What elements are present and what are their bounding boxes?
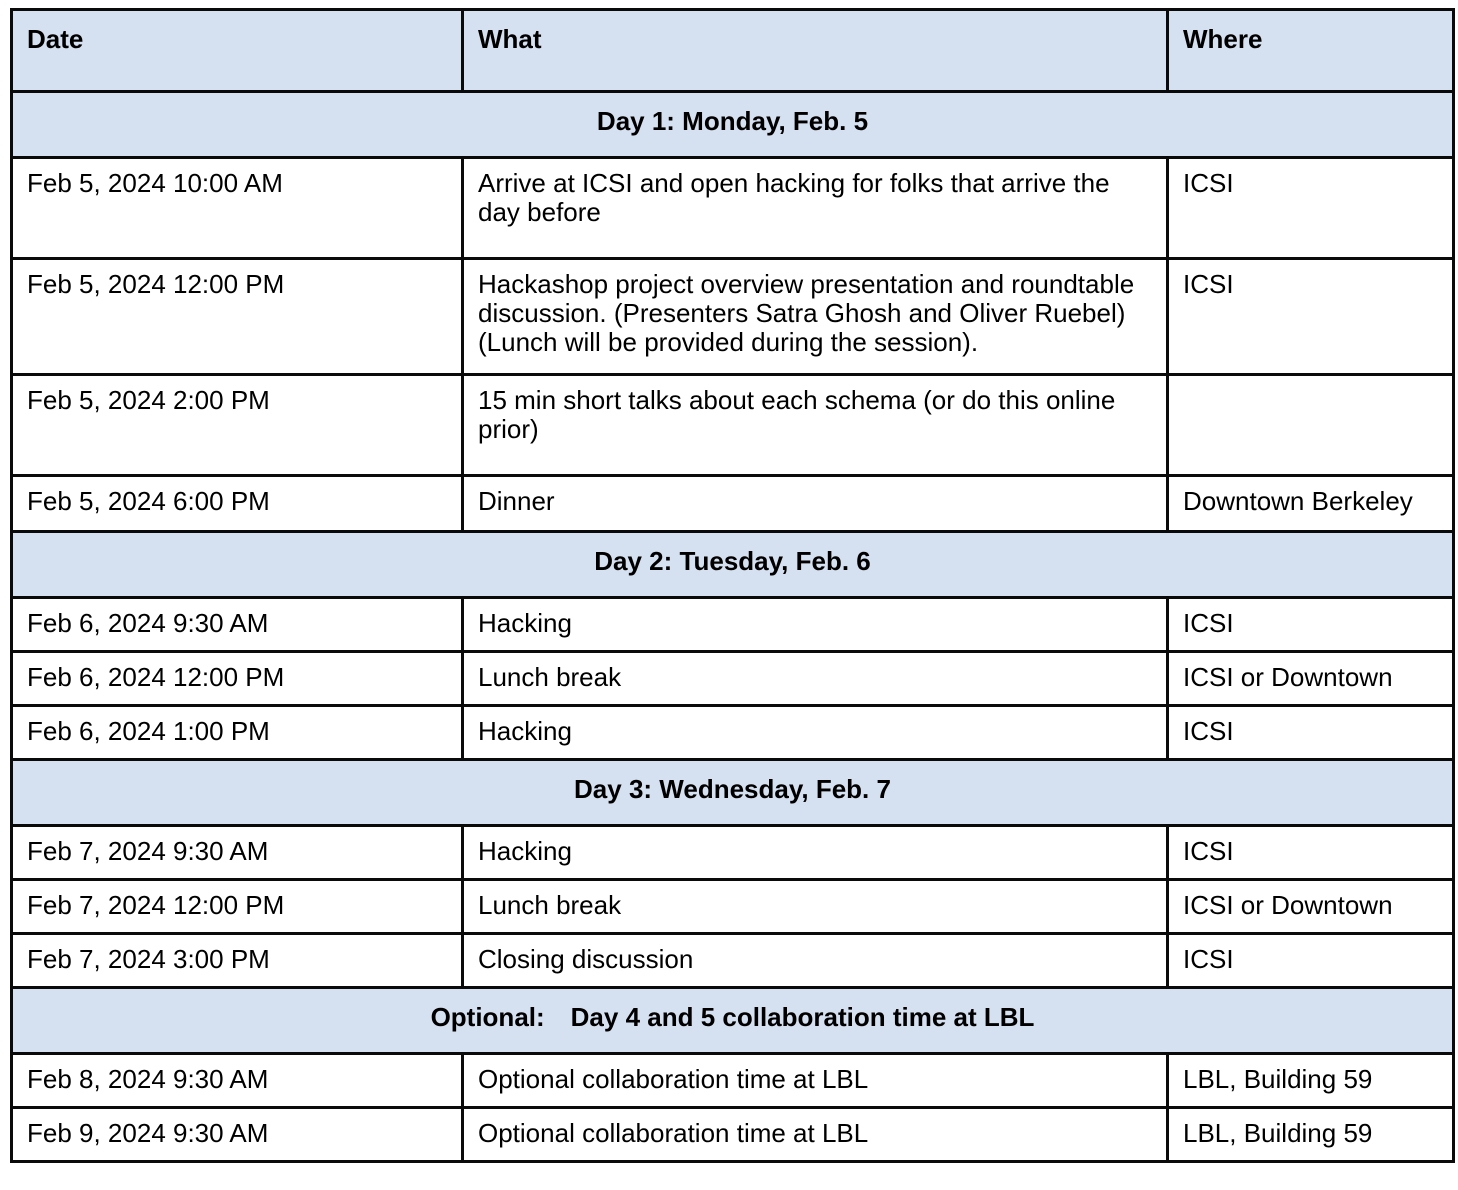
day-divider-row: Optional:Day 4 and 5 collaboration time … (12, 988, 1454, 1054)
cell-where: Downtown Berkeley (1168, 476, 1454, 532)
cell-where: ICSI or Downtown (1168, 880, 1454, 934)
workshop-schedule-table: Date What Where Day 1: Monday, Feb. 5 Fe… (10, 8, 1455, 1163)
cell-what: Dinner (463, 476, 1168, 532)
table-row: Feb 9, 2024 9:30 AM Optional collaborati… (12, 1108, 1454, 1162)
table-row: Feb 6, 2024 1:00 PM Hacking ICSI (12, 706, 1454, 760)
column-header-date: Date (12, 10, 463, 92)
day-heading-1: Day 1: Monday, Feb. 5 (12, 92, 1454, 158)
cell-where: ICSI (1168, 706, 1454, 760)
cell-what: 15 min short talks about each schema (or… (463, 375, 1168, 476)
cell-date: Feb 7, 2024 3:00 PM (12, 934, 463, 988)
table-header-row: Date What Where (12, 10, 1454, 92)
optional-heading-text: Day 4 and 5 collaboration time at LBL (571, 1002, 1035, 1032)
table-row: Feb 6, 2024 9:30 AM Hacking ICSI (12, 598, 1454, 652)
cell-date: Feb 6, 2024 1:00 PM (12, 706, 463, 760)
cell-date: Feb 9, 2024 9:30 AM (12, 1108, 463, 1162)
cell-date: Feb 5, 2024 12:00 PM (12, 259, 463, 375)
cell-what: Hackashop project overview presentation … (463, 259, 1168, 375)
table-row: Feb 5, 2024 6:00 PM Dinner Downtown Berk… (12, 476, 1454, 532)
day-divider-row: Day 3: Wednesday, Feb. 7 (12, 760, 1454, 826)
cell-what: Optional collaboration time at LBL (463, 1054, 1168, 1108)
cell-where: ICSI (1168, 259, 1454, 375)
cell-what: Lunch break (463, 880, 1168, 934)
optional-label: Optional: (431, 1002, 545, 1032)
day-heading-3: Day 3: Wednesday, Feb. 7 (12, 760, 1454, 826)
cell-date: Feb 6, 2024 12:00 PM (12, 652, 463, 706)
cell-what: Hacking (463, 826, 1168, 880)
cell-date: Feb 7, 2024 9:30 AM (12, 826, 463, 880)
cell-where: ICSI (1168, 158, 1454, 259)
table-body: Day 1: Monday, Feb. 5 Feb 5, 2024 10:00 … (12, 92, 1454, 1162)
day-heading-2: Day 2: Tuesday, Feb. 6 (12, 532, 1454, 598)
cell-what: Closing discussion (463, 934, 1168, 988)
cell-date: Feb 5, 2024 2:00 PM (12, 375, 463, 476)
schedule-page: Date What Where Day 1: Monday, Feb. 5 Fe… (0, 0, 1458, 1190)
table-row: Feb 5, 2024 10:00 AM Arrive at ICSI and … (12, 158, 1454, 259)
cell-date: Feb 7, 2024 12:00 PM (12, 880, 463, 934)
cell-where: ICSI (1168, 598, 1454, 652)
table-row: Feb 6, 2024 12:00 PM Lunch break ICSI or… (12, 652, 1454, 706)
cell-where: ICSI or Downtown (1168, 652, 1454, 706)
cell-date: Feb 6, 2024 9:30 AM (12, 598, 463, 652)
cell-what: Hacking (463, 706, 1168, 760)
day-heading-optional: Optional:Day 4 and 5 collaboration time … (12, 988, 1454, 1054)
table-row: Feb 5, 2024 12:00 PM Hackashop project o… (12, 259, 1454, 375)
cell-what: Arrive at ICSI and open hacking for folk… (463, 158, 1168, 259)
cell-date: Feb 5, 2024 6:00 PM (12, 476, 463, 532)
table-row: Feb 7, 2024 12:00 PM Lunch break ICSI or… (12, 880, 1454, 934)
column-header-where: Where (1168, 10, 1454, 92)
table-row: Feb 7, 2024 3:00 PM Closing discussion I… (12, 934, 1454, 988)
cell-what: Optional collaboration time at LBL (463, 1108, 1168, 1162)
day-divider-row: Day 1: Monday, Feb. 5 (12, 92, 1454, 158)
cell-where (1168, 375, 1454, 476)
cell-where: LBL, Building 59 (1168, 1108, 1454, 1162)
day-divider-row: Day 2: Tuesday, Feb. 6 (12, 532, 1454, 598)
table-row: Feb 8, 2024 9:30 AM Optional collaborati… (12, 1054, 1454, 1108)
cell-where: ICSI (1168, 826, 1454, 880)
table-row: Feb 7, 2024 9:30 AM Hacking ICSI (12, 826, 1454, 880)
cell-date: Feb 5, 2024 10:00 AM (12, 158, 463, 259)
cell-where: ICSI (1168, 934, 1454, 988)
cell-where: LBL, Building 59 (1168, 1054, 1454, 1108)
cell-what: Hacking (463, 598, 1168, 652)
column-header-what: What (463, 10, 1168, 92)
cell-what: Lunch break (463, 652, 1168, 706)
cell-date: Feb 8, 2024 9:30 AM (12, 1054, 463, 1108)
table-row: Feb 5, 2024 2:00 PM 15 min short talks a… (12, 375, 1454, 476)
